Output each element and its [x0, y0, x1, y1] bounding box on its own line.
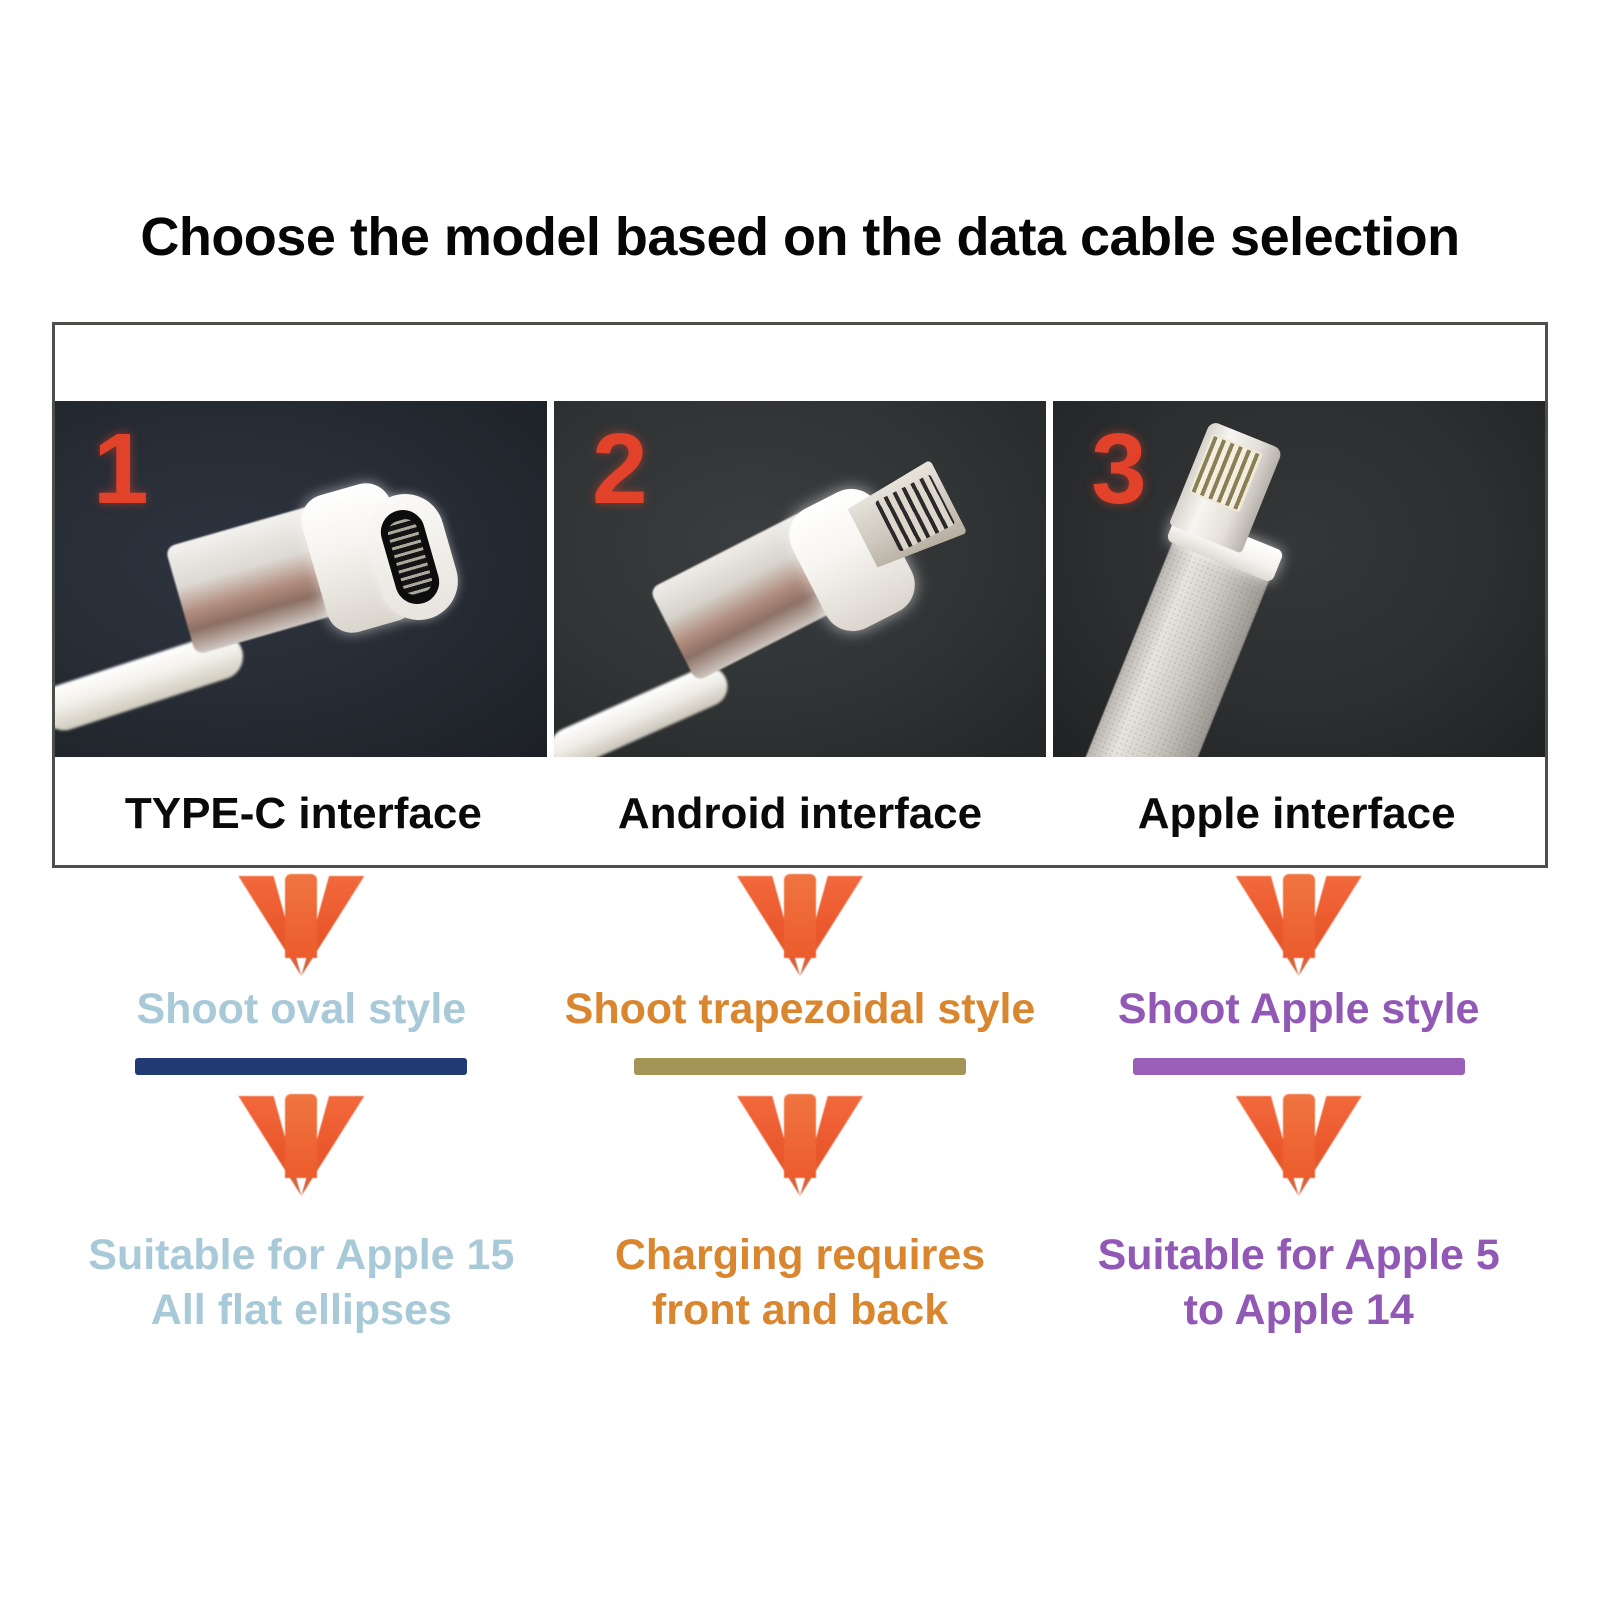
description-row: Suitable for Apple 15 All flat ellipses … [52, 1228, 1548, 1338]
frame-top-band [55, 325, 1545, 401]
shoot-style-oval: Shoot oval style [52, 985, 551, 1034]
divider-bar-trapezoidal [634, 1058, 966, 1075]
page-title: Choose the model based on the data cable… [0, 206, 1600, 268]
connector-photo-row: 1 2 3 [55, 401, 1545, 757]
description-line-2: front and back [551, 1283, 1050, 1338]
interface-label-android: Android interface [552, 789, 1049, 839]
down-arrow-icon [1236, 872, 1362, 976]
divider-bar-oval [135, 1058, 467, 1075]
interface-label-row: TYPE-C interface Android interface Apple… [55, 763, 1545, 865]
description-line-1: Charging requires [551, 1228, 1050, 1283]
panel-number-1: 1 [93, 419, 149, 519]
connector-photo-android: 2 [554, 401, 1046, 757]
connector-photo-type-c: 1 [55, 401, 547, 757]
description-line-2: All flat ellipses [52, 1283, 551, 1338]
arrow-cell [52, 872, 551, 980]
arrow-cell [1049, 872, 1548, 980]
shoot-style-row: Shoot oval style Shoot trapezoidal style… [52, 985, 1548, 1034]
connector-photo-apple: 3 [1053, 401, 1545, 757]
down-arrow-icon [238, 872, 364, 976]
arrow-cell [52, 1092, 551, 1200]
arrow-row-bottom [52, 1092, 1548, 1200]
connector-photo-frame: 1 2 3 TYPE-C interface Android interface… [52, 322, 1548, 868]
arrow-cell [1049, 1092, 1548, 1200]
description-line-1: Suitable for Apple 5 [1049, 1228, 1548, 1283]
down-arrow-icon [238, 1092, 364, 1196]
description-apple: Suitable for Apple 5 to Apple 14 [1049, 1228, 1548, 1338]
description-type-c: Suitable for Apple 15 All flat ellipses [52, 1228, 551, 1338]
style-divider-bar-row [52, 1058, 1548, 1075]
interface-label-type-c: TYPE-C interface [55, 789, 552, 839]
down-arrow-icon [737, 872, 863, 976]
shoot-style-apple: Shoot Apple style [1049, 985, 1548, 1034]
description-line-1: Suitable for Apple 15 [52, 1228, 551, 1283]
interface-label-apple: Apple interface [1048, 789, 1545, 839]
panel-number-3: 3 [1091, 419, 1147, 519]
down-arrow-icon [737, 1092, 863, 1196]
shoot-style-trapezoidal: Shoot trapezoidal style [551, 985, 1050, 1034]
bar-cell [551, 1058, 1050, 1075]
bar-cell [1049, 1058, 1548, 1075]
divider-bar-apple [1133, 1058, 1465, 1075]
bar-cell [52, 1058, 551, 1075]
description-android: Charging requires front and back [551, 1228, 1050, 1338]
panel-number-2: 2 [592, 419, 648, 519]
arrow-row-top [52, 872, 1548, 980]
description-line-2: to Apple 14 [1049, 1283, 1548, 1338]
down-arrow-icon [1236, 1092, 1362, 1196]
arrow-cell [551, 1092, 1050, 1200]
arrow-cell [551, 872, 1050, 980]
